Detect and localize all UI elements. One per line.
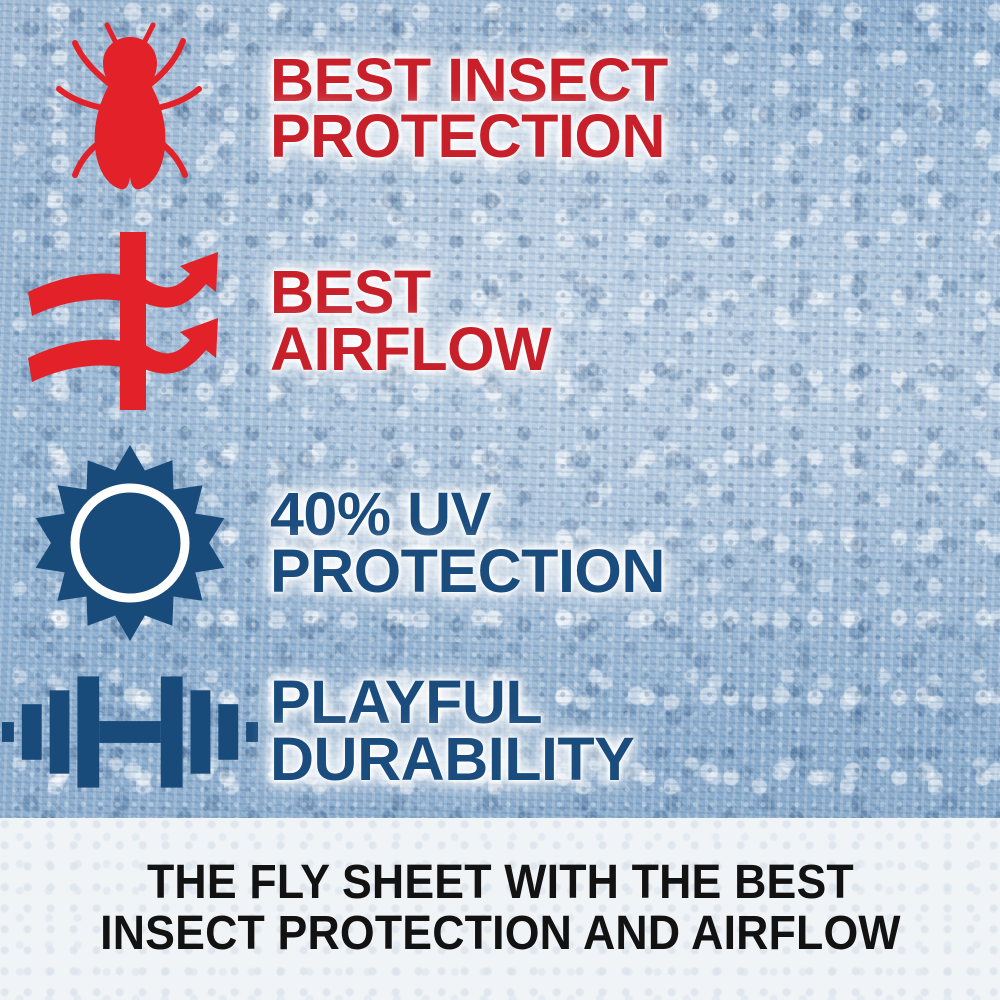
feature-row-airflow: BEST AIRFLOW	[0, 218, 1000, 423]
feature-icon-cell	[0, 228, 260, 413]
feature-label-uv-protection: 40% UV PROTECTION	[270, 486, 1000, 598]
product-feature-infographic: BEST INSECT PROTECTION BEST AIRFLOW	[0, 0, 1000, 1000]
dumbbell-icon	[0, 666, 260, 796]
airflow-arrows-icon	[20, 228, 240, 413]
feature-label-airflow: BEST AIRFLOW	[270, 264, 1000, 376]
feature-label-cell: BEST INSECT PROTECTION	[260, 52, 1000, 164]
feature-label-cell: BEST AIRFLOW	[260, 264, 1000, 376]
feature-icon-cell	[0, 443, 260, 643]
feature-row-durability: PLAYFUL DURABILITY	[0, 648, 1000, 813]
caption-band: THE FLY SHEET WITH THE BEST INSECT PROTE…	[0, 818, 1000, 1000]
feature-label-durability: PLAYFUL DURABILITY	[270, 674, 1000, 786]
feature-list: BEST INSECT PROTECTION BEST AIRFLOW	[0, 0, 1000, 818]
sun-uv-icon	[30, 443, 230, 643]
fly-icon	[45, 13, 215, 203]
feature-icon-cell	[0, 666, 260, 796]
feature-label-cell: 40% UV PROTECTION	[260, 486, 1000, 598]
feature-icon-cell	[0, 13, 260, 203]
feature-label-insect-protection: BEST INSECT PROTECTION	[270, 52, 1000, 164]
caption-headline: THE FLY SHEET WITH THE BEST INSECT PROTE…	[100, 858, 901, 960]
feature-label-cell: PLAYFUL DURABILITY	[260, 674, 1000, 786]
feature-row-uv-protection: 40% UV PROTECTION	[0, 435, 1000, 650]
feature-row-insect-protection: BEST INSECT PROTECTION	[0, 8, 1000, 208]
